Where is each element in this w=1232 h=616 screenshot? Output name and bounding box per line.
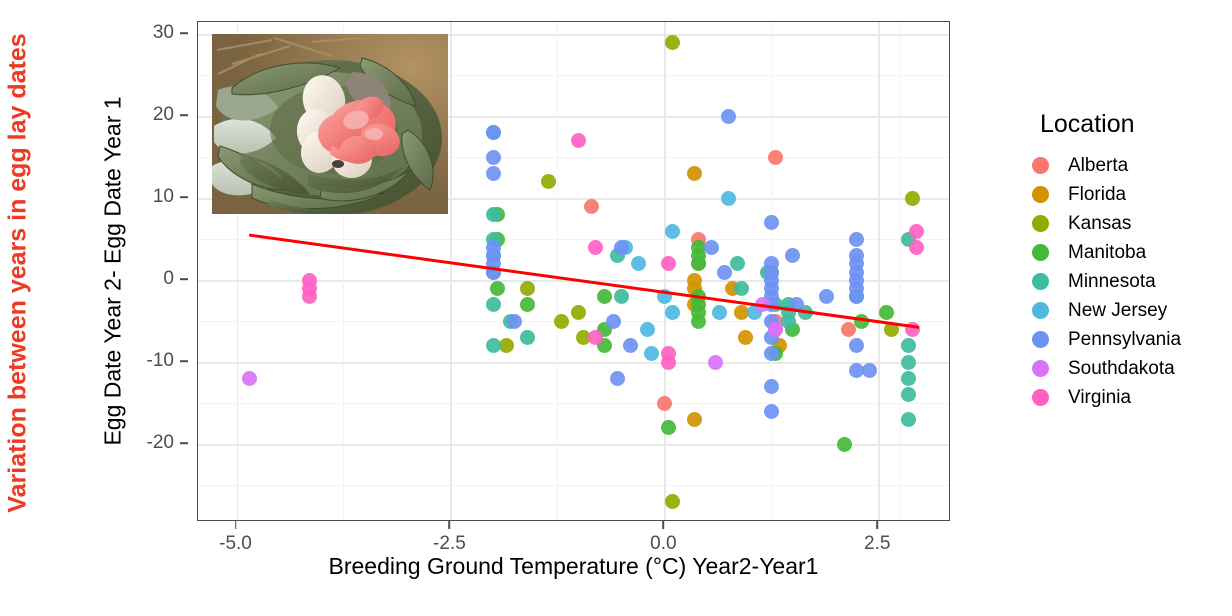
data-point [584,199,599,214]
gridline-minor-horizontal [198,485,949,486]
data-point [541,174,556,189]
legend-item-virginia[interactable]: Virginia [1022,383,1222,412]
y-tick-mark [180,442,188,444]
legend-item-label: Minnesota [1068,271,1156,293]
scatter-plot-figure: Variation between years in egg lay dates… [0,0,1232,616]
data-point [614,240,629,255]
legend-item-label: Virginia [1068,387,1131,409]
data-point [661,420,676,435]
y-tick-mark [180,32,188,34]
x-tick-mark [663,521,665,529]
x-tick-label: 2.5 [864,533,890,555]
y-tick-mark [180,114,188,116]
y-tick-mark [180,196,188,198]
legend-item-southdakota[interactable]: Southdakota [1022,354,1222,383]
legend-key [1022,244,1058,261]
data-point [631,256,646,271]
data-point [490,281,505,296]
y-tick-label: 20 [153,104,174,126]
data-point [486,207,501,222]
data-point [640,322,655,337]
data-point [717,265,732,280]
data-point [242,371,257,386]
gridline-major-vertical [664,22,666,520]
data-point [905,322,920,337]
legend-key [1022,186,1058,203]
legend-item-label: Pennsylvania [1068,329,1181,351]
data-point [687,412,702,427]
data-point [704,240,719,255]
data-point [302,289,317,304]
data-point [862,363,877,378]
data-point [905,191,920,206]
data-point [764,404,779,419]
gridline-minor-vertical [900,22,901,520]
legend-color-swatch [1032,215,1049,232]
legend-key [1022,331,1058,348]
x-tick-label: 0.0 [650,533,676,555]
data-point [610,371,625,386]
data-point [730,256,745,271]
legend-item-pennsylvania[interactable]: Pennsylvania [1022,325,1222,354]
data-point [554,314,569,329]
data-point [486,297,501,312]
data-point [764,215,779,230]
data-point [764,379,779,394]
legend-items: AlbertaFloridaKansasManitobaMinnesotaNew… [1022,151,1222,412]
y-tick-label: 0 [163,268,174,290]
x-axis-ticks: -5.0-2.50.02.5 [197,521,950,555]
legend-color-swatch [1032,389,1049,406]
side-caption: Variation between years in egg lay dates [0,0,36,545]
data-point [665,35,680,50]
legend-item-label: Alberta [1068,155,1128,177]
data-point [712,305,727,320]
data-point [687,166,702,181]
y-tick-mark [180,278,188,280]
plot-panel [197,21,950,521]
nest-photo-art [212,34,448,214]
data-point [486,166,501,181]
legend-item-label: Kansas [1068,213,1131,235]
y-tick-label: -20 [147,432,174,454]
legend-key [1022,302,1058,319]
data-point [520,281,535,296]
data-point [665,224,680,239]
legend-item-label: Manitoba [1068,242,1146,264]
legend-key [1022,273,1058,290]
data-point [721,191,736,206]
x-tick-label: -2.5 [433,533,466,555]
data-point [734,281,749,296]
gridline-minor-horizontal [198,403,949,404]
y-axis-ticks: 3020100-10-20 [130,21,188,521]
data-point [657,289,672,304]
data-point [614,289,629,304]
gridline-minor-horizontal [198,239,949,240]
legend-color-swatch [1032,331,1049,348]
data-point [721,109,736,124]
data-point [849,232,864,247]
legend-color-swatch [1032,302,1049,319]
data-point [499,338,514,353]
data-point [507,314,522,329]
data-point [661,256,676,271]
data-point [849,289,864,304]
gridline-minor-vertical [557,22,558,520]
data-point [665,494,680,509]
data-point [879,305,894,320]
data-point [623,338,638,353]
gridline-major-horizontal [198,362,949,364]
data-point [849,338,864,353]
legend: Location AlbertaFloridaKansasManitobaMin… [1022,110,1222,412]
legend-key [1022,157,1058,174]
data-point [901,338,916,353]
data-point [657,396,672,411]
bird-nest-photo [212,34,448,214]
data-point [486,125,501,140]
legend-key [1022,389,1058,406]
y-axis-title: Egg Date Year 2- Egg Date Year 1 [96,21,130,521]
data-point [520,297,535,312]
legend-title: Location [1040,110,1222,139]
data-point [819,289,834,304]
legend-item-florida[interactable]: Florida [1022,180,1222,209]
legend-item-alberta[interactable]: Alberta [1022,151,1222,180]
data-point [901,387,916,402]
data-point [785,248,800,263]
data-point [901,371,916,386]
legend-item-kansas[interactable]: Kansas [1022,209,1222,238]
data-point [854,314,869,329]
y-axis-title-text: Egg Date Year 2- Egg Date Year 1 [100,96,127,445]
legend-color-swatch [1032,273,1049,290]
data-point [781,314,796,329]
gridline-major-vertical [878,22,880,520]
data-point [901,412,916,427]
legend-color-swatch [1032,244,1049,261]
data-point [486,338,501,353]
data-point [837,437,852,452]
gridline-minor-horizontal [198,321,949,322]
legend-key [1022,215,1058,232]
x-tick-mark [235,521,237,529]
data-point [665,305,680,320]
data-point [606,314,621,329]
legend-item-label: Southdakota [1068,358,1175,380]
legend-item-new-jersey[interactable]: New Jersey [1022,296,1222,325]
data-point [597,289,612,304]
y-tick-label: 10 [153,186,174,208]
data-point [691,256,706,271]
data-point [708,355,723,370]
data-point [486,265,501,280]
data-point [901,355,916,370]
legend-item-manitoba[interactable]: Manitoba [1022,238,1222,267]
x-tick-label: -5.0 [219,533,252,555]
data-point [571,305,586,320]
x-axis-title: Breeding Ground Temperature (°C) Year2-Y… [197,553,950,580]
legend-key [1022,360,1058,377]
data-point [691,314,706,329]
data-point [486,150,501,165]
x-tick-mark [876,521,878,529]
data-point [571,133,586,148]
legend-color-swatch [1032,360,1049,377]
y-tick-label: 30 [153,22,174,44]
data-point [909,240,924,255]
x-tick-mark [449,521,451,529]
legend-color-swatch [1032,186,1049,203]
legend-color-swatch [1032,157,1049,174]
legend-item-label: Florida [1068,184,1126,206]
y-tick-mark [180,360,188,362]
data-point [588,240,603,255]
y-tick-label: -10 [147,350,174,372]
gridline-major-vertical [450,22,452,520]
data-point [644,346,659,361]
data-point [909,224,924,239]
data-point [738,330,753,345]
side-caption-text: Variation between years in egg lay dates [4,33,33,512]
legend-item-minnesota[interactable]: Minnesota [1022,267,1222,296]
data-point [520,330,535,345]
data-point [768,150,783,165]
data-point [768,322,783,337]
legend-item-label: New Jersey [1068,300,1167,322]
data-point [661,355,676,370]
data-point [884,322,899,337]
